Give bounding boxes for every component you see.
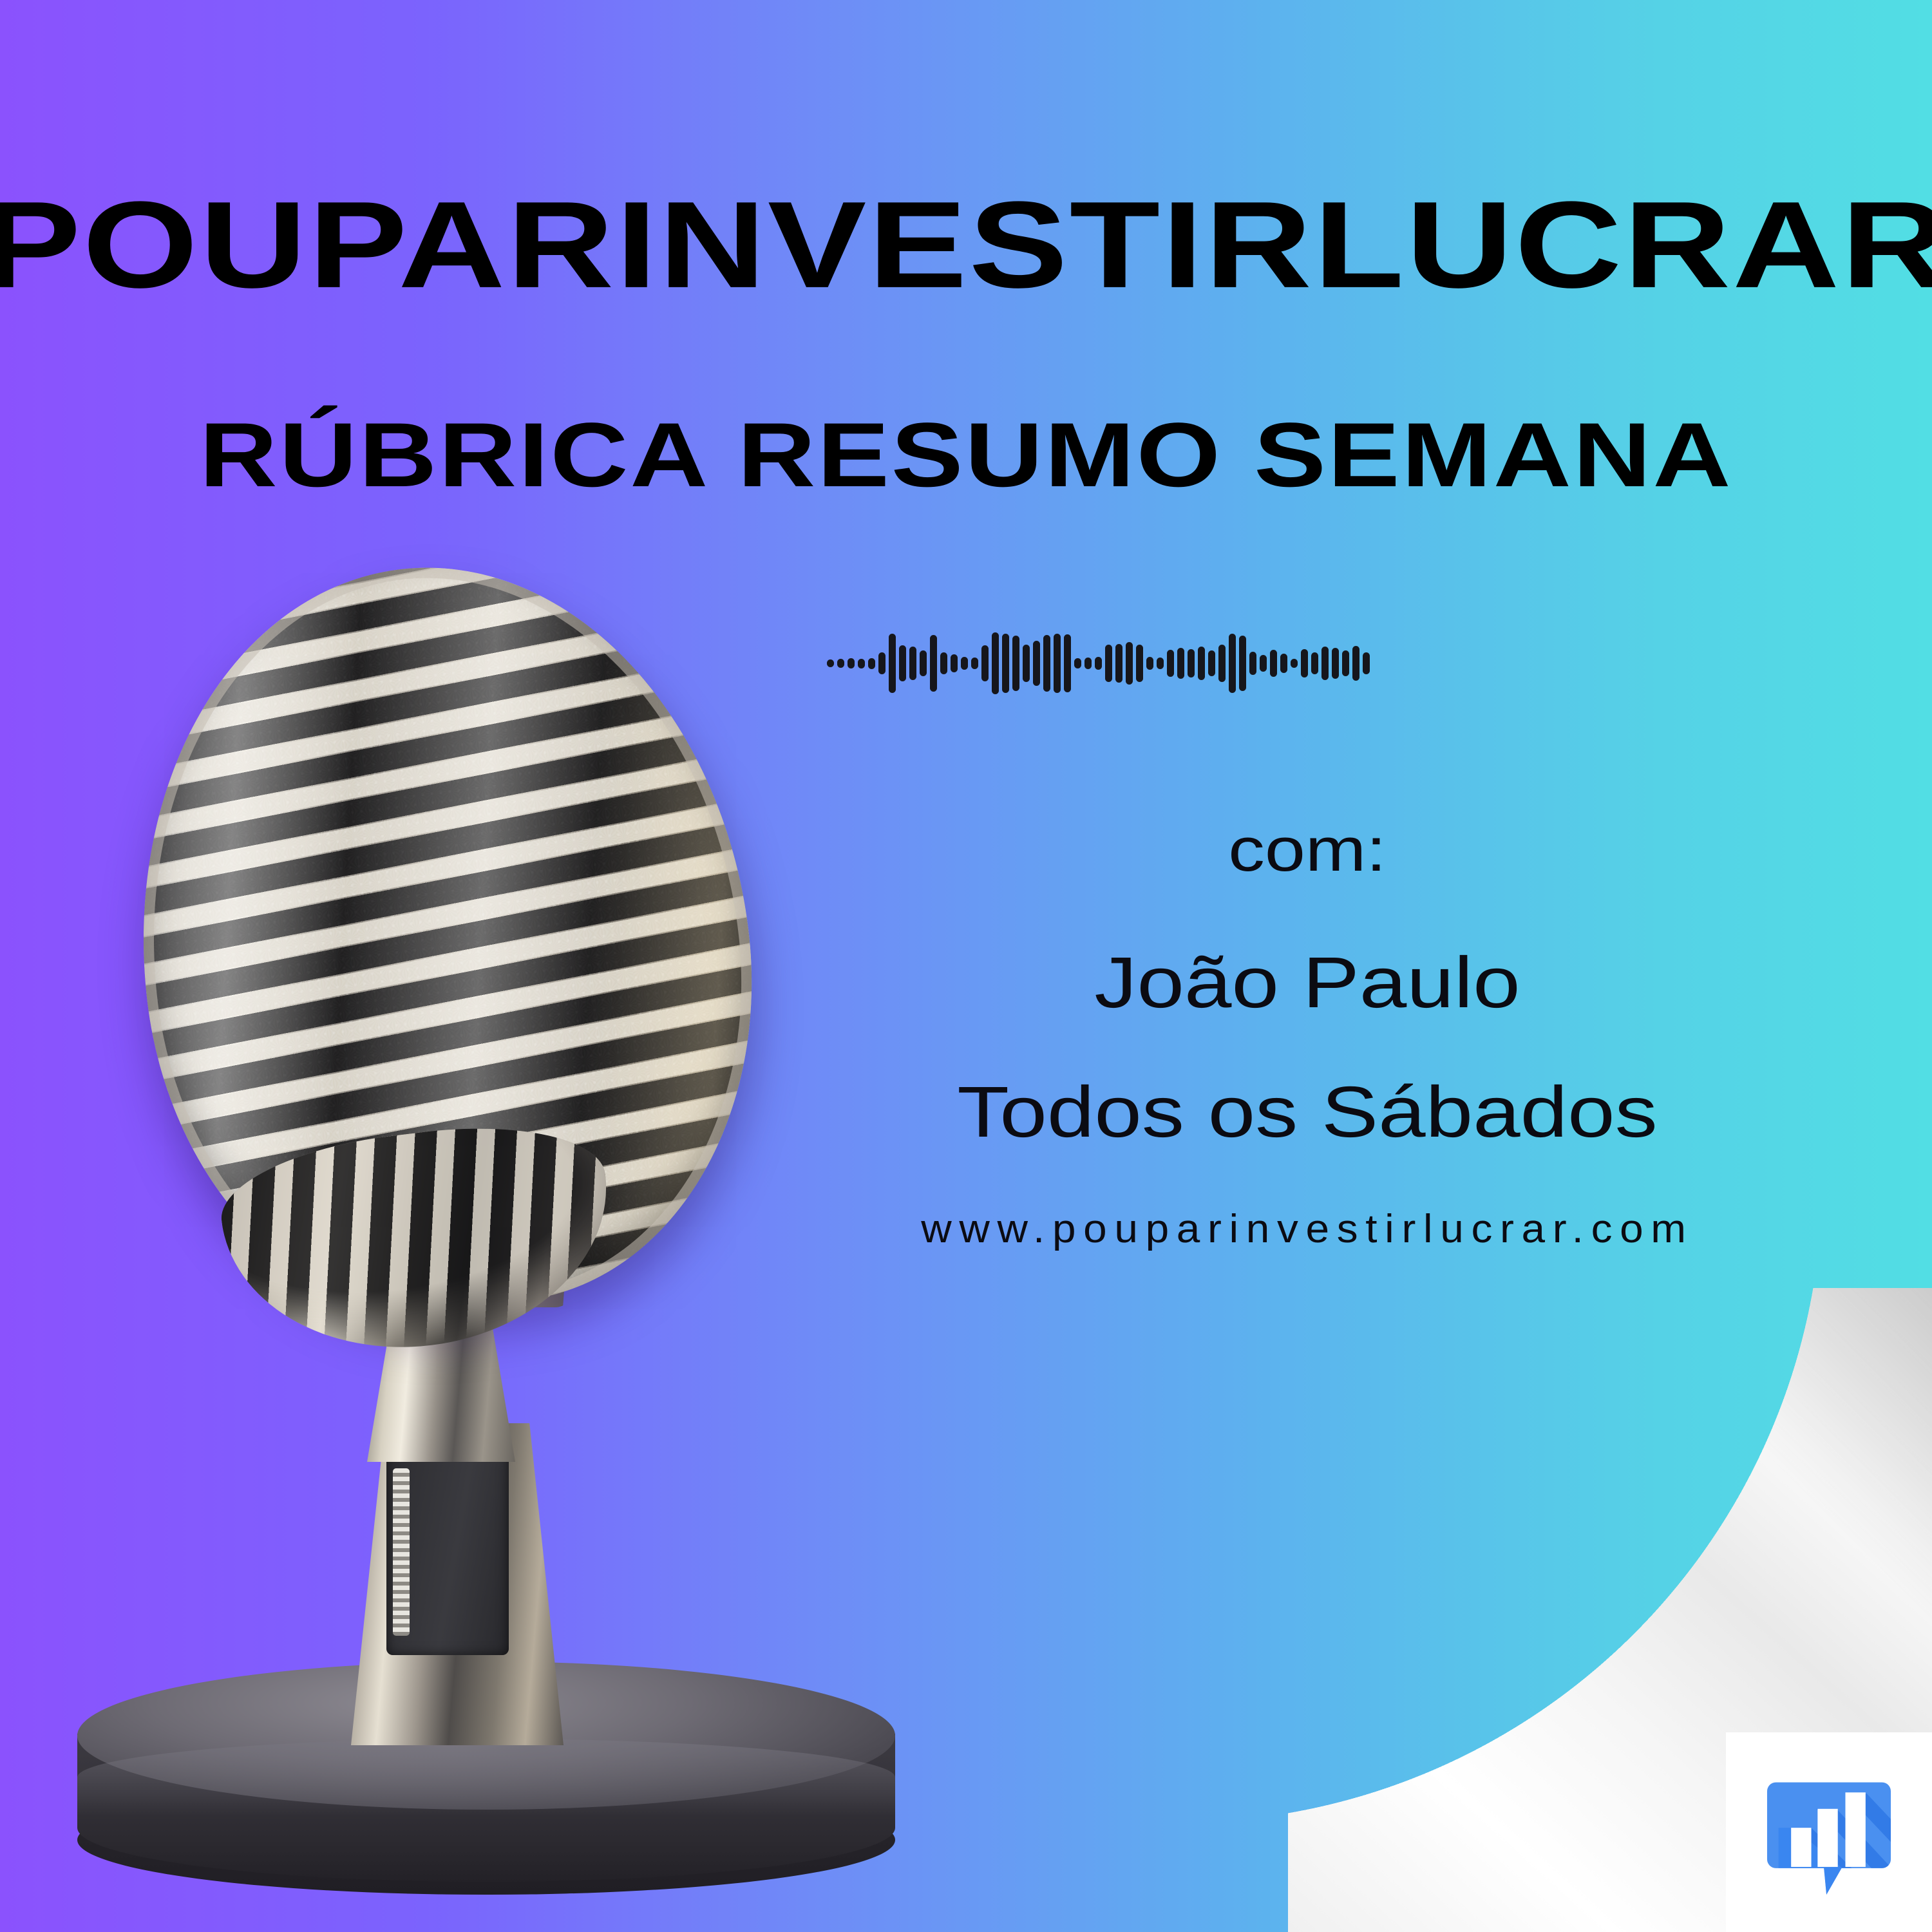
waveform-bar [961,657,968,670]
waveform-bar [1311,652,1318,674]
waveform-bar [920,650,927,676]
waveform-bar [951,654,958,672]
waveform-bar [1332,648,1339,679]
mic-stand-detail [393,1468,410,1636]
waveform-bar [1260,655,1267,672]
page-title: POUPARINVESTIRLUCRAR [0,184,1932,307]
waveform-bar [1321,647,1329,680]
waveform-bar [971,658,978,669]
waveform-bar [1167,650,1174,677]
waveform-bar [1342,650,1349,676]
waveform-bar [1115,644,1122,683]
waveform-bar [1280,654,1287,673]
waveform-bar [1064,634,1071,692]
waveform-bar [992,632,999,694]
logo-badge [1726,1732,1932,1932]
waveform-bar [1136,645,1143,682]
waveform-bar [1074,658,1081,668]
waveform-bar [1157,658,1164,669]
waveform-bar [1270,650,1277,677]
waveform-bar [909,647,916,680]
waveform-bar [940,652,947,674]
waveform-bar [1105,645,1112,682]
waveform-bar [1126,642,1133,685]
website-url[interactable]: www.pouparinvestirlucrar.com [761,1208,1853,1250]
waveform-bar [1218,645,1226,682]
waveform-bar [1033,641,1040,686]
credits-block: com: João Paulo Todos os Sábados www.pou… [792,818,1823,1250]
chart-speech-bubble-icon [1766,1770,1892,1896]
waveform-bar [1023,645,1030,682]
waveform-bar [1363,652,1370,674]
waveform-bar [1291,659,1298,668]
waveform-bar [1301,649,1308,677]
waveform-bar [1249,652,1256,675]
waveform-bar [930,635,937,692]
waveform-bar [1239,636,1246,691]
waveform-bar [1012,636,1019,691]
waveform-bar [1146,657,1153,670]
waveform-bar [1188,649,1195,677]
vintage-microphone-image [58,567,908,1906]
subtitle-block: RÚBRICA RESUMO SEMANA [0,417,1932,493]
waveform-bar [1229,634,1236,693]
waveform-bar [1208,650,1215,676]
waveform-bar [1054,634,1061,693]
waveform-bar [1095,657,1102,670]
waveform-bar [1084,658,1092,669]
podcast-promo-poster: POUPARINVESTIRLUCRAR RÚBRICA RESUMO SEMA… [0,0,1932,1932]
waveform-bar [1043,635,1050,692]
waveform-bar [1198,647,1205,680]
page-subtitle: RÚBRICA RESUMO SEMANA [0,410,1932,501]
waveform-bar [1177,648,1184,679]
title-block: POUPARINVESTIRLUCRAR [0,193,1932,298]
mic-base-highlight [77,1739,895,1816]
waveform-bar [981,645,989,681]
waveform-bar [1002,634,1009,693]
waveform-bar [1352,646,1359,681]
